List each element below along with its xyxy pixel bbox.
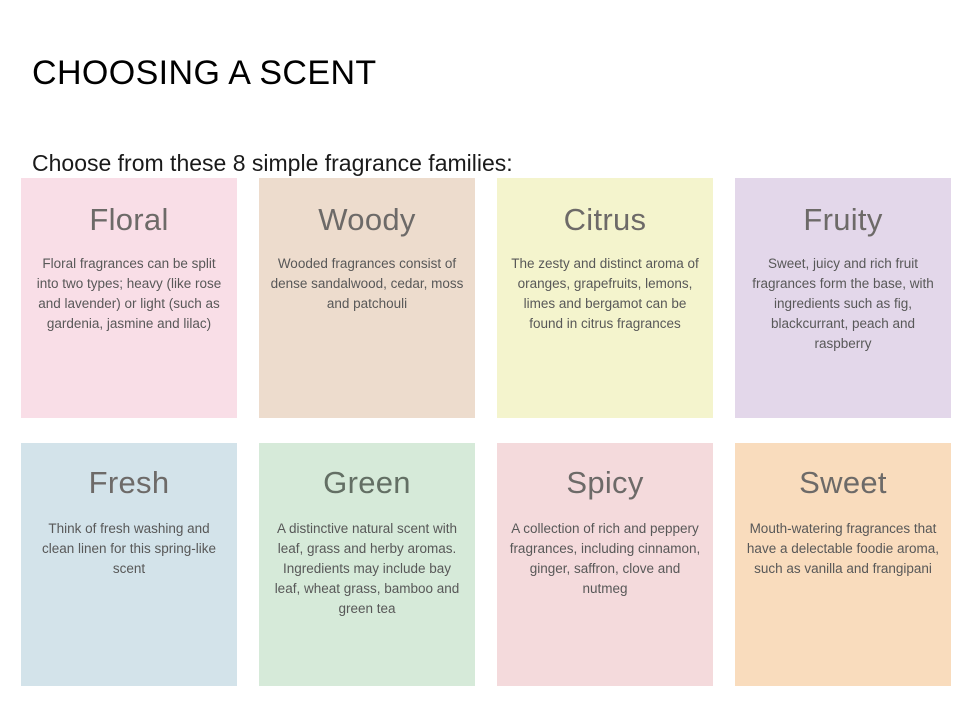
fragrance-card-title: Sweet (745, 443, 941, 503)
fragrance-card-citrus[interactable]: Citrus The zesty and distinct aroma of o… (497, 178, 713, 418)
fragrance-card-title: Fresh (31, 443, 227, 503)
fragrance-card-title: Woody (269, 178, 465, 240)
fragrance-card-green[interactable]: Green A distinctive natural scent with l… (259, 443, 475, 686)
fragrance-card-title: Fruity (745, 178, 941, 240)
fragrance-card-description: The zesty and distinct aroma of oranges,… (507, 240, 703, 334)
fragrance-card-description: Sweet, juicy and rich fruit fragrances f… (745, 240, 941, 354)
fragrance-card-description: Mouth-watering fragrances that have a de… (745, 503, 941, 579)
fragrance-card-fresh[interactable]: Fresh Think of fresh washing and clean l… (21, 443, 237, 686)
fragrance-card-description: Floral fragrances can be split into two … (31, 240, 227, 334)
page-subtitle: Choose from these 8 simple fragrance fam… (32, 147, 513, 179)
fragrance-card-description: Think of fresh washing and clean linen f… (31, 503, 227, 579)
fragrance-family-grid: Floral Floral fragrances can be split in… (21, 178, 953, 688)
fragrance-card-woody[interactable]: Woody Wooded fragrances consist of dense… (259, 178, 475, 418)
fragrance-card-title: Green (269, 443, 465, 503)
fragrance-card-description: A distinctive natural scent with leaf, g… (269, 503, 465, 619)
fragrance-card-title: Citrus (507, 178, 703, 240)
fragrance-card-spicy[interactable]: Spicy A collection of rich and peppery f… (497, 443, 713, 686)
fragrance-card-title: Spicy (507, 443, 703, 503)
fragrance-card-fruity[interactable]: Fruity Sweet, juicy and rich fruit fragr… (735, 178, 951, 418)
page-title: CHOOSING A SCENT (32, 51, 377, 95)
fragrance-card-title: Floral (31, 178, 227, 240)
fragrance-card-floral[interactable]: Floral Floral fragrances can be split in… (21, 178, 237, 418)
slide-canvas: CHOOSING A SCENT Choose from these 8 sim… (0, 0, 980, 714)
fragrance-card-sweet[interactable]: Sweet Mouth-watering fragrances that hav… (735, 443, 951, 686)
fragrance-card-description: Wooded fragrances consist of dense sanda… (269, 240, 465, 314)
fragrance-card-description: A collection of rich and peppery fragran… (507, 503, 703, 599)
